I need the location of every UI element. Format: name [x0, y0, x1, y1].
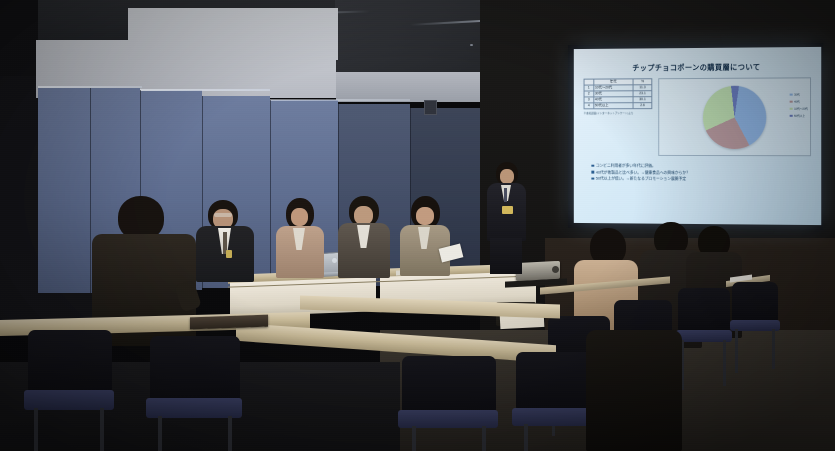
pie-chart-container: 30代40代10代～20代50代以上 — [658, 77, 811, 156]
legend-swatch-icon — [790, 93, 793, 96]
wall-panel — [38, 88, 90, 293]
ceiling-fixture-dot — [470, 44, 473, 46]
name-badge — [502, 206, 513, 214]
legs — [490, 238, 522, 274]
legend-item: 30代 — [790, 93, 808, 97]
necktie — [504, 188, 507, 202]
projection-screen: チップチョコポーンの購買層について 年代 % — [574, 47, 821, 225]
person-panel-3 — [338, 196, 390, 278]
bullet-square-icon — [591, 164, 594, 167]
slide-data-table: 年代 % 1 10代～20代 11.3 2 — [584, 78, 653, 109]
panel-edge-highlight — [140, 89, 270, 91]
face — [500, 169, 514, 184]
meeting-room-photo: チップチョコポーンの購買層について 年代 % — [0, 0, 835, 451]
face — [291, 208, 308, 226]
panel-seam — [90, 88, 91, 293]
wall-upper-light-back — [128, 8, 338, 60]
pie-chart — [702, 85, 765, 148]
name-badge — [226, 250, 232, 258]
bullet-square-icon — [591, 177, 594, 180]
slide-data-table-wrap: 年代 % 1 10代～20代 11.3 2 — [584, 78, 655, 156]
legend-label: 10代～20代 — [794, 107, 808, 111]
person-panel-1 — [196, 200, 254, 282]
cell-percent: 2.6 — [633, 102, 652, 108]
legend-item: 50代以上 — [790, 114, 808, 118]
person-panel-4 — [400, 196, 450, 276]
pie-chart-legend: 30代40代10代～20代50代以上 — [790, 93, 808, 118]
face — [416, 207, 434, 225]
bullet-square-icon — [591, 171, 594, 174]
table-row: 4 50代以上 2.6 — [584, 102, 652, 108]
cell-agegroup: 50代以上 — [593, 102, 633, 108]
panel-seam — [270, 100, 271, 286]
slide-bullet-list: コンビニ利用者が多い年代に評価。 40代が他製品と比べ多い。→健康食品への興味か… — [582, 163, 813, 184]
chair[interactable] — [730, 282, 780, 374]
legend-item: 10代～20代 — [790, 107, 808, 111]
audience-person-foreground — [586, 330, 682, 451]
legend-swatch-icon — [790, 115, 793, 118]
glasses-icon — [214, 213, 232, 217]
legend-swatch-icon — [790, 100, 793, 103]
slide-title: チップチョコポーンの購買層について — [582, 62, 813, 74]
projector-lens-icon — [552, 266, 559, 273]
standing-presenter — [484, 162, 528, 272]
table-source-note: ※本社調査(インターネットアンケート)より — [584, 112, 655, 115]
cell-index: 4 — [584, 103, 593, 109]
chair[interactable] — [398, 356, 498, 451]
person-panel-2 — [276, 198, 324, 278]
bullet-item: 50代以上が低い。→新たなるプロモーション展開予定 — [591, 176, 813, 184]
torso — [586, 330, 682, 451]
chair[interactable] — [24, 330, 114, 451]
legend-label: 30代 — [794, 93, 800, 97]
bullet-text: 50代以上が低い。→新たなるプロモーション展開予定 — [596, 176, 686, 183]
wall-speaker — [424, 100, 437, 115]
chair[interactable] — [676, 288, 732, 392]
legend-label: 50代以上 — [794, 114, 805, 118]
laptop-logo-icon — [332, 258, 337, 263]
chair[interactable] — [146, 336, 242, 451]
legend-label: 40代 — [794, 100, 800, 104]
presentation-slide: チップチョコポーンの購買層について 年代 % — [574, 47, 821, 225]
legend-swatch-icon — [790, 107, 793, 110]
legend-item: 40代 — [790, 100, 808, 104]
panel-edge-highlight — [270, 99, 410, 101]
